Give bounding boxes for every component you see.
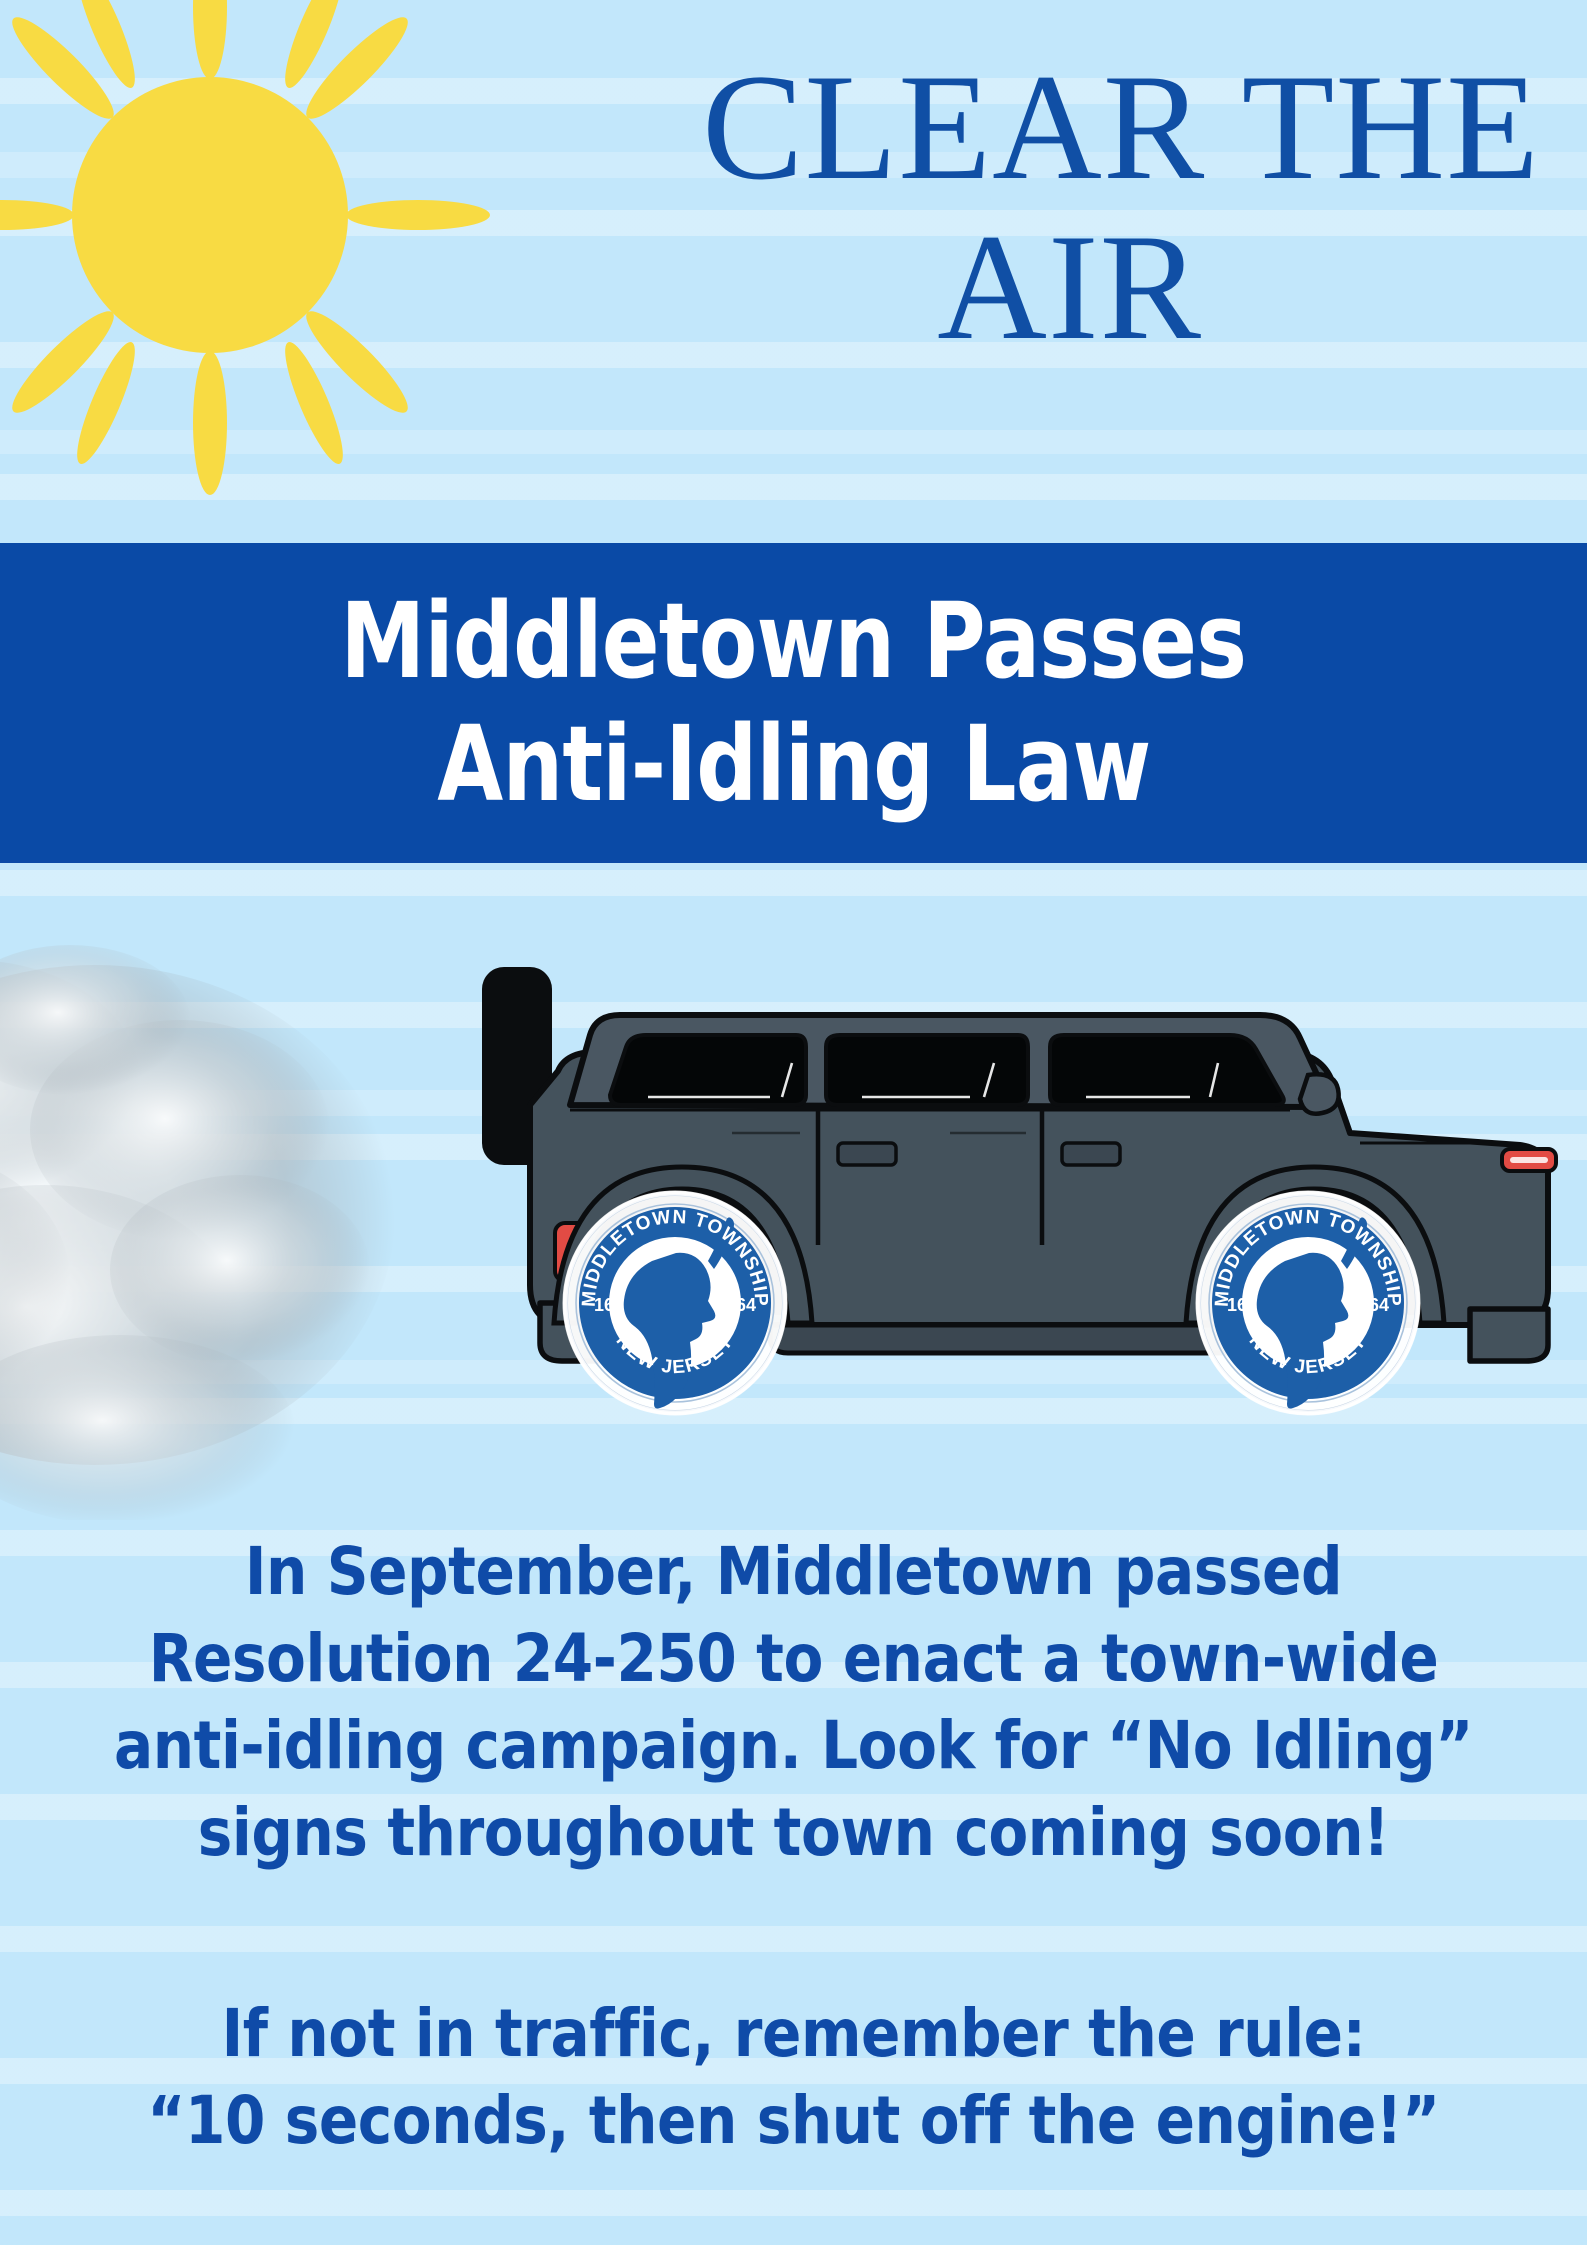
front-bumper [1470,1309,1548,1361]
seal-right-digits: 64 [736,1295,756,1315]
rear-wheel-seal: MIDDLETOWN TOWNSHIP NEW JERSEY 16 64 [563,1191,787,1415]
headline-line-1: Middletown Passes [341,580,1247,703]
rear-door-handle [838,1143,896,1165]
seal-left-digits: 16 [1227,1295,1247,1315]
side-mirror [1300,1074,1339,1113]
sun-icon [0,0,490,495]
front-door-handle [1062,1143,1120,1165]
seal-right-digits: 64 [1369,1295,1389,1315]
side-step [770,1325,1230,1353]
seal-left-digits: 16 [594,1295,614,1315]
headline-line-2: Anti-Idling Law [437,703,1150,826]
vehicle-windows [610,1035,1284,1105]
headline-banner: Middletown Passes Anti-Idling Law [0,543,1587,863]
poster-canvas: CLEAR THE AIR Middletown Passes Anti-Idl… [0,0,1587,2245]
front-wheel-seal: MIDDLETOWN TOWNSHIP NEW JERSEY 16 64 [1196,1191,1420,1415]
suv-illustration: MIDDLETOWN TOWNSHIP NEW JERSEY 16 64 [470,905,1580,1445]
